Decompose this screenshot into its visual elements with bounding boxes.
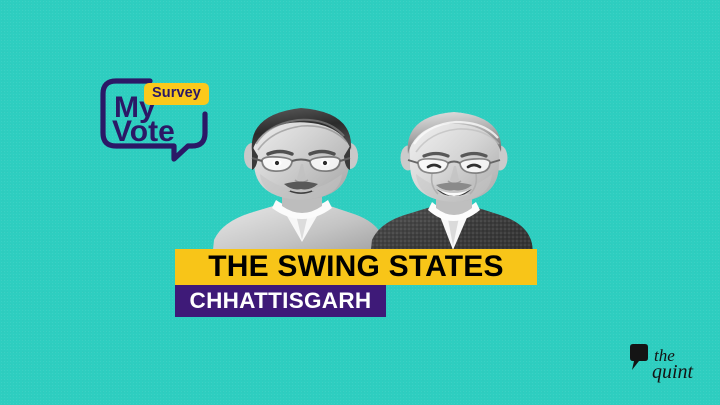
title-banner: THE SWING STATES: [175, 249, 537, 285]
subtitle-banner: CHHATTISGARH: [175, 285, 386, 317]
page-title: THE SWING STATES: [208, 252, 503, 282]
portrait-right: [368, 104, 536, 260]
quote-bubble-icon: [630, 344, 648, 370]
myvote-line2: Vote: [112, 115, 175, 148]
the-quint-logo[interactable]: the quint: [628, 343, 702, 383]
portrait-left: [208, 100, 388, 260]
survey-badge[interactable]: Survey: [144, 83, 209, 105]
quint-line2: quint: [652, 361, 694, 383]
state-name: CHHATTISGARH: [190, 290, 372, 313]
swing-states-chhattisgarh-card: My Vote Survey: [0, 0, 720, 405]
